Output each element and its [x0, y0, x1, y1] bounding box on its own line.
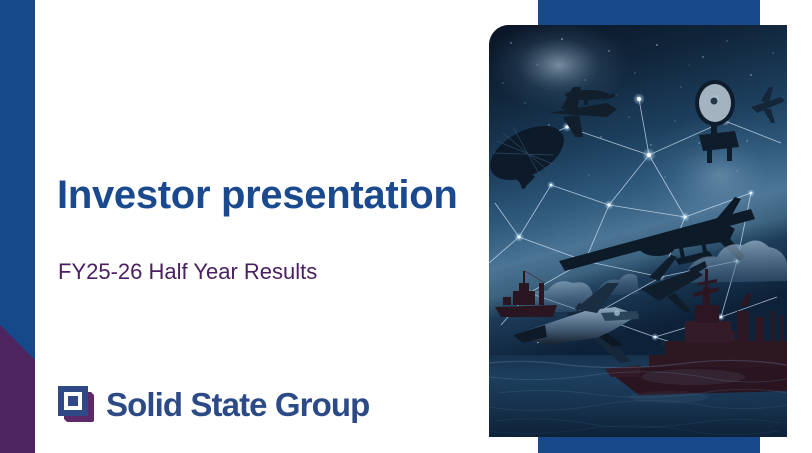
- overlapping-squares-logo-icon: [55, 383, 97, 425]
- brand-logo: Solid State Group: [55, 383, 369, 425]
- page-subtitle: FY25-26 Half Year Results: [58, 259, 317, 285]
- defence-network-illustration: [489, 25, 787, 437]
- presentation-slide: Investor presentation FY25-26 Half Year …: [0, 0, 812, 453]
- bottom-blue-plate: [538, 437, 760, 453]
- page-title: Investor presentation: [57, 173, 457, 218]
- brand-name: Solid State Group: [106, 388, 369, 421]
- left-accent-bar: [0, 0, 35, 453]
- defence-network-imagery: [489, 25, 787, 437]
